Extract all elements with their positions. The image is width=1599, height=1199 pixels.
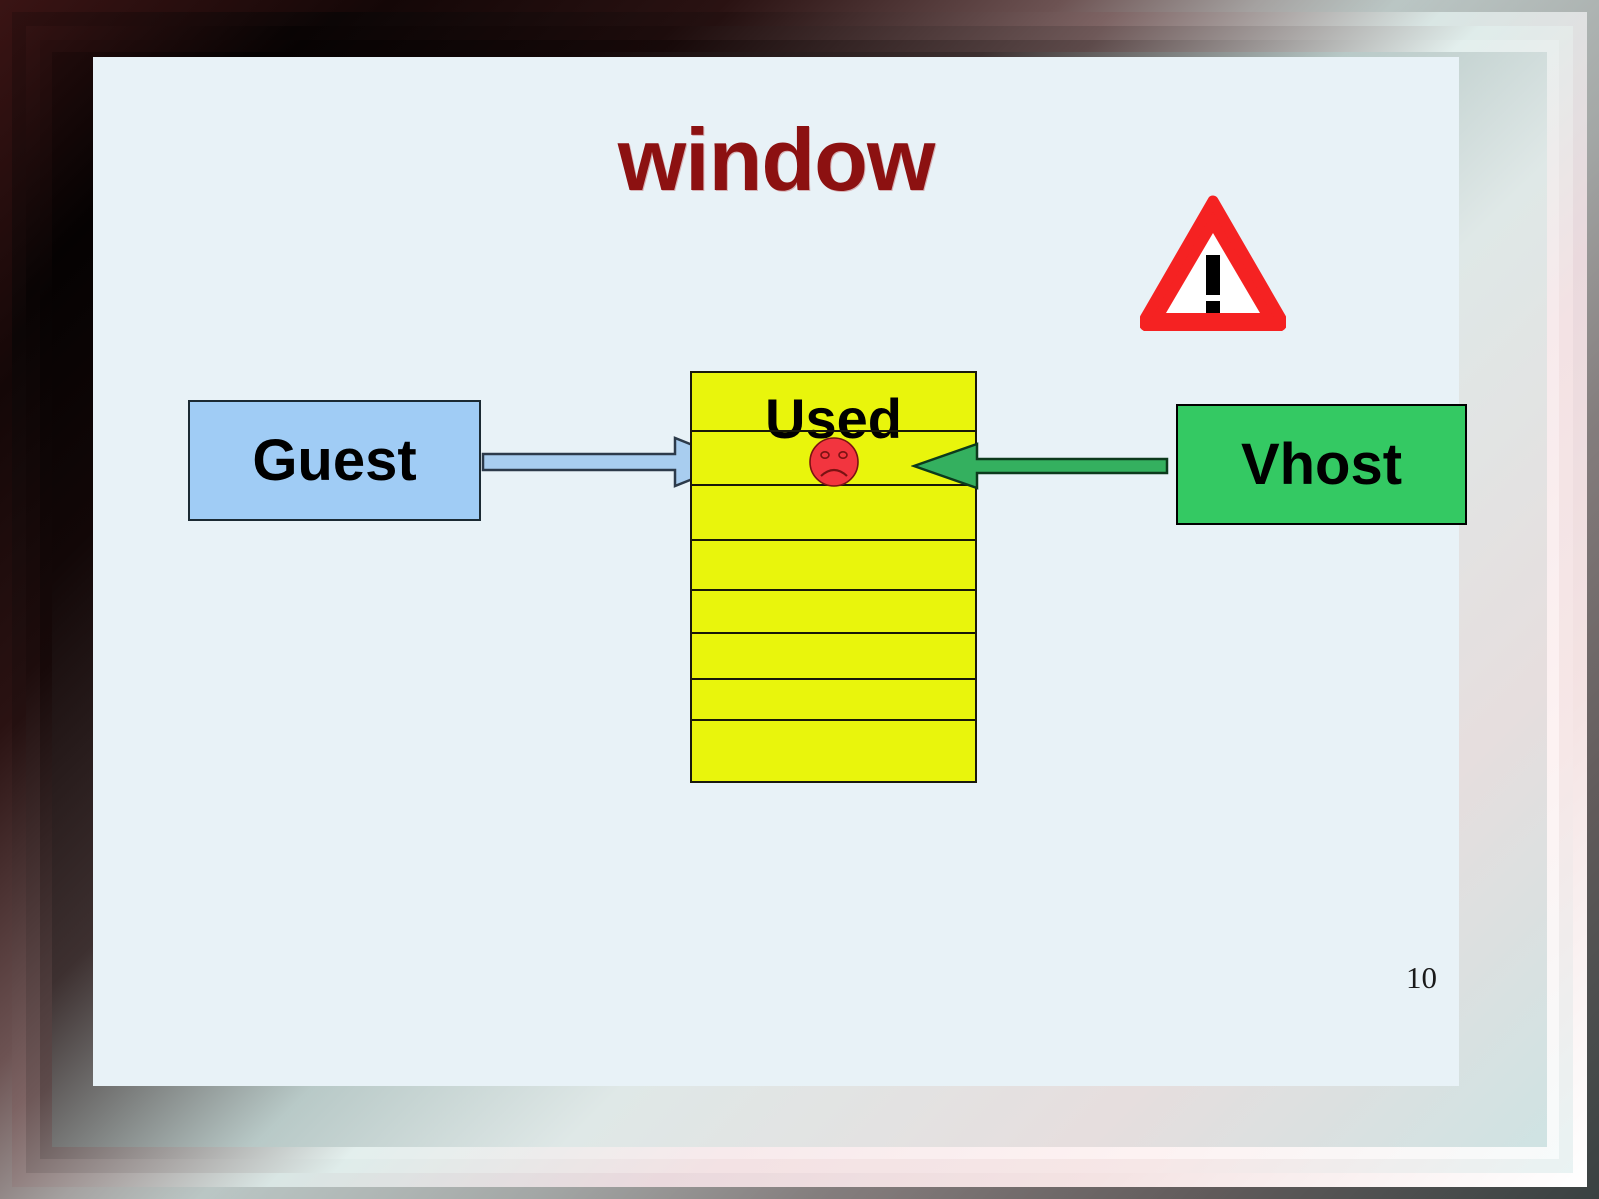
slide-canvas: window Guest Used: [93, 57, 1459, 1086]
node-used[interactable]: Used: [690, 371, 977, 783]
page-title: window: [93, 116, 1459, 204]
warning-triangle-icon: [1140, 195, 1286, 331]
slide-root: window Guest Used: [0, 0, 1599, 1199]
node-vhost-label: Vhost: [1241, 431, 1402, 498]
page-number: 10: [1406, 960, 1437, 996]
node-guest-label: Guest: [252, 427, 416, 494]
node-vhost[interactable]: Vhost: [1176, 404, 1467, 525]
node-guest[interactable]: Guest: [188, 400, 481, 521]
arrow-vhost-to-used: [911, 440, 1169, 492]
used-row-divider: [692, 632, 975, 634]
used-row-divider: [692, 719, 975, 721]
used-row-divider: [692, 430, 975, 432]
sad-face-icon: [807, 435, 861, 489]
used-row-divider: [692, 589, 975, 591]
used-row-divider: [692, 678, 975, 680]
used-row-divider: [692, 539, 975, 541]
